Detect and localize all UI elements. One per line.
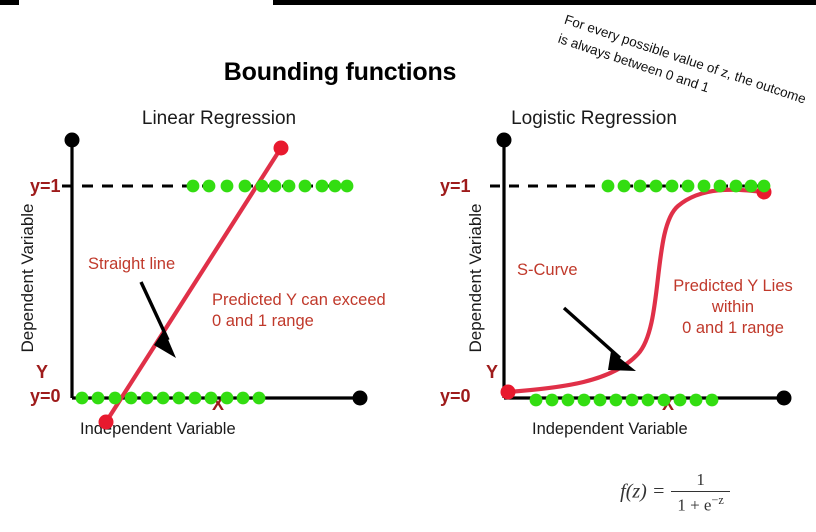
formula-denominator-base: 1 + e [677,496,711,515]
formula-numerator: 1 [671,470,729,491]
x-axis-cap-dot-linear [353,391,368,406]
sigmoid-curve-logistic [508,190,764,392]
formula-denominator: 1 + e−z [671,491,729,516]
top-bar-left-segment [0,0,19,5]
sigmoid-formula: f(z) =11 + e−z [560,470,790,516]
y-axis-cap-dot-linear [65,133,80,148]
data-points-class1-linear [187,180,354,193]
pointer-arrow-s-curve [564,308,636,371]
formula-denominator-exponent: −z [711,493,723,507]
y-axis-cap-dot-logistic [497,133,512,148]
formula-left-hand-side: f(z) = [620,480,665,502]
top-bar-right-segment [273,0,816,5]
x-axis-cap-dot-logistic [777,391,792,406]
regression-endpoint-top-linear [274,141,289,156]
chart-graphics-logistic [412,108,816,458]
data-points-class0-logistic [530,394,719,407]
chart-linear-regression: Linear Regression Dependent Variable Y y… [0,108,410,458]
regression-endpoint-bottom-linear [99,415,114,430]
formula-fraction: 11 + e−z [671,470,729,516]
chart-logistic-regression: Logistic Regression Dependent Variable Y… [412,108,816,458]
sigmoid-endpoint-left-logistic [501,385,516,400]
page-title: Bounding functions [0,58,680,87]
chart-graphics-linear [0,108,410,458]
